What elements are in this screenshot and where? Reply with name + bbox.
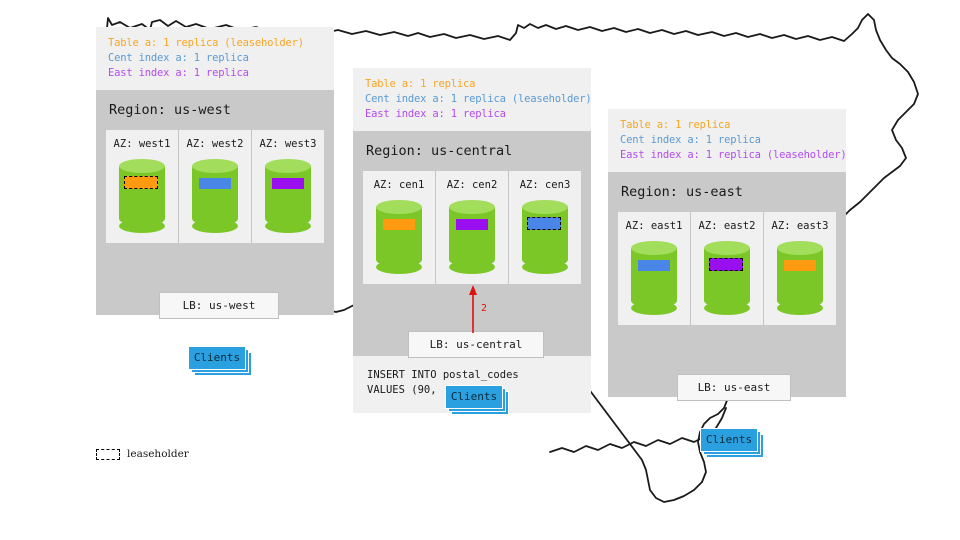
cylinder-body xyxy=(192,166,238,226)
load-balancer-us-east[interactable]: LB: us-east xyxy=(677,374,791,401)
region-header-us-east: Table a: 1 replica Cent index a: 1 repli… xyxy=(608,109,846,172)
az-cell-east1[interactable]: AZ: east1 xyxy=(618,212,690,325)
legend-label: leaseholder xyxy=(127,448,189,460)
region-body-us-west: Region: us-west AZ: west1 AZ: west2 xyxy=(96,90,334,315)
region-panel-us-west: Table a: 1 replica (leaseholder) Cent in… xyxy=(96,27,334,315)
cylinder-bottom xyxy=(777,301,823,315)
node-cylinder-west3[interactable] xyxy=(265,159,311,233)
region-header-us-west: Table a: 1 replica (leaseholder) Cent in… xyxy=(96,27,334,90)
az-cell-east3[interactable]: AZ: east3 xyxy=(763,212,836,325)
az-label: AZ: west3 xyxy=(260,138,317,150)
az-panel-us-west: AZ: west1 AZ: west2 AZ: west3 xyxy=(106,130,324,243)
cylinder-top xyxy=(119,159,165,173)
az-cell-east2[interactable]: AZ: east2 xyxy=(690,212,763,325)
az-cell-cen3[interactable]: AZ: cen3 xyxy=(508,171,581,284)
az-panel-us-central: AZ: cen1 AZ: cen2 AZ: cen3 xyxy=(363,171,581,284)
cylinder-bottom xyxy=(265,219,311,233)
replica-bar-east-index xyxy=(272,178,304,189)
header-line-cent-index: Cent index a: 1 replica (leaseholder) xyxy=(365,92,579,107)
az-label: AZ: east2 xyxy=(699,220,756,232)
node-cylinder-west1[interactable] xyxy=(119,159,165,233)
cylinder-top xyxy=(631,241,677,255)
legend: leaseholder xyxy=(96,448,189,460)
node-cylinder-cen2[interactable] xyxy=(449,200,495,274)
az-cell-west2[interactable]: AZ: west2 xyxy=(178,130,251,243)
replica-bar-cent-index xyxy=(638,260,670,271)
replica-bar-east-index xyxy=(456,219,488,230)
header-line-table: Table a: 1 replica (leaseholder) xyxy=(108,36,322,51)
az-label: AZ: west1 xyxy=(114,138,171,150)
region-header-us-central: Table a: 1 replica Cent index a: 1 repli… xyxy=(353,68,591,131)
cylinder-body xyxy=(449,207,495,267)
clients-label: Clients xyxy=(700,428,758,452)
region-body-us-central: Region: us-central AZ: cen1 AZ: cen2 xyxy=(353,131,591,356)
az-cell-west1[interactable]: AZ: west1 xyxy=(106,130,178,243)
az-label: AZ: west2 xyxy=(187,138,244,150)
region-panel-us-east: Table a: 1 replica Cent index a: 1 repli… xyxy=(608,109,846,397)
cylinder-body xyxy=(631,248,677,308)
cylinder-top xyxy=(376,200,422,214)
replica-bar-cent-index-leaseholder xyxy=(527,217,561,230)
cylinder-top xyxy=(192,159,238,173)
node-cylinder-cen1[interactable] xyxy=(376,200,422,274)
az-label: AZ: cen1 xyxy=(374,179,425,191)
az-label: AZ: east1 xyxy=(626,220,683,232)
header-line-table: Table a: 1 replica xyxy=(620,118,834,133)
replica-bar-table-leaseholder xyxy=(124,176,158,189)
cylinder-top xyxy=(777,241,823,255)
replica-bar-table xyxy=(383,219,415,230)
az-label: AZ: cen3 xyxy=(520,179,571,191)
clients-us-central[interactable]: Clients xyxy=(445,385,507,411)
cylinder-top xyxy=(522,200,568,214)
header-line-table: Table a: 1 replica xyxy=(365,77,579,92)
node-cylinder-east3[interactable] xyxy=(777,241,823,315)
clients-label: Clients xyxy=(445,385,503,409)
cylinder-body xyxy=(777,248,823,308)
arrow-step-number: 2 xyxy=(481,303,487,314)
cylinder-bottom xyxy=(704,301,750,315)
cylinder-bottom xyxy=(522,260,568,274)
cylinder-top xyxy=(265,159,311,173)
cylinder-bottom xyxy=(376,260,422,274)
node-cylinder-east1[interactable] xyxy=(631,241,677,315)
replica-bar-east-index-leaseholder xyxy=(709,258,743,271)
cylinder-body xyxy=(704,248,750,308)
region-title: Region: us-west xyxy=(106,90,324,130)
load-balancer-us-central[interactable]: LB: us-central xyxy=(408,331,544,358)
cylinder-top xyxy=(704,241,750,255)
header-line-cent-index: Cent index a: 1 replica xyxy=(108,51,322,66)
cylinder-body xyxy=(376,207,422,267)
load-balancer-us-west[interactable]: LB: us-west xyxy=(159,292,279,319)
replica-bar-cent-index xyxy=(199,178,231,189)
cylinder-bottom xyxy=(192,219,238,233)
header-line-cent-index: Cent index a: 1 replica xyxy=(620,133,834,148)
cylinder-bottom xyxy=(119,219,165,233)
az-panel-us-east: AZ: east1 AZ: east2 AZ: east3 xyxy=(618,212,836,325)
write-arrow-to-cen2 xyxy=(465,283,481,335)
dashed-rect-icon xyxy=(96,449,120,460)
clients-label: Clients xyxy=(188,346,246,370)
az-cell-west3[interactable]: AZ: west3 xyxy=(251,130,324,243)
cylinder-bottom xyxy=(449,260,495,274)
cylinder-bottom xyxy=(631,301,677,315)
region-body-us-east: Region: us-east AZ: east1 AZ: east2 xyxy=(608,172,846,397)
node-cylinder-west2[interactable] xyxy=(192,159,238,233)
az-cell-cen1[interactable]: AZ: cen1 xyxy=(363,171,435,284)
node-cylinder-cen3[interactable] xyxy=(522,200,568,274)
cylinder-body xyxy=(119,166,165,226)
az-label: AZ: cen2 xyxy=(447,179,498,191)
az-label: AZ: east3 xyxy=(772,220,829,232)
node-cylinder-east2[interactable] xyxy=(704,241,750,315)
header-line-east-index: East index a: 1 replica xyxy=(365,107,579,122)
header-line-east-index: East index a: 1 replica (leaseholder) xyxy=(620,148,834,163)
cylinder-body xyxy=(265,166,311,226)
sql-line-1: INSERT INTO postal_codes xyxy=(367,368,577,384)
clients-us-east[interactable]: Clients xyxy=(700,428,762,454)
az-cell-cen2[interactable]: AZ: cen2 xyxy=(435,171,508,284)
region-title: Region: us-central xyxy=(363,131,581,171)
region-panel-us-central: Table a: 1 replica Cent index a: 1 repli… xyxy=(353,68,591,413)
region-title: Region: us-east xyxy=(618,172,836,212)
cylinder-top xyxy=(449,200,495,214)
replica-bar-table xyxy=(784,260,816,271)
clients-us-west[interactable]: Clients xyxy=(188,346,250,372)
cylinder-body xyxy=(522,207,568,267)
header-line-east-index: East index a: 1 replica xyxy=(108,66,322,81)
